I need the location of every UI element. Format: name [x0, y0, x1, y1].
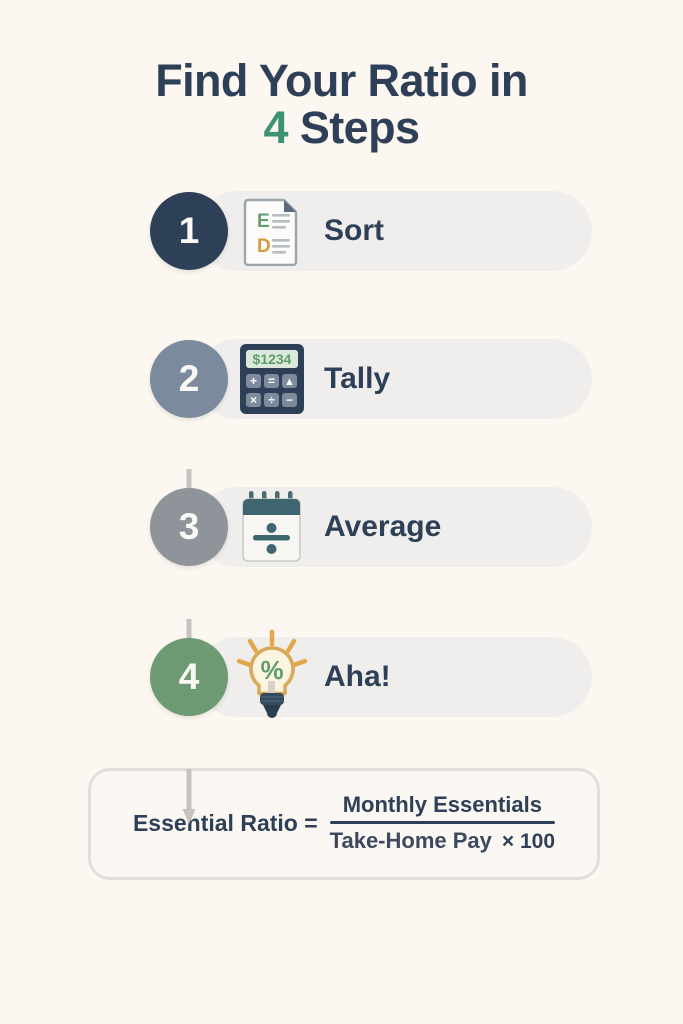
step-number-badge-3: 3 — [150, 488, 228, 566]
step-label-2: Tally — [324, 362, 390, 396]
formula-denominator-row: Take-Home Pay × 100 — [330, 824, 555, 854]
calendar-divide-icon — [234, 485, 310, 569]
formula-numerator: Monthly Essentials — [330, 792, 555, 821]
svg-text:D: D — [257, 236, 271, 257]
svg-text:+: + — [250, 374, 257, 388]
step-number-badge-1: 1 — [150, 192, 228, 270]
step-row-4[interactable]: 4 % Ah — [150, 628, 683, 726]
lightbulb-percent-icon: % — [234, 635, 310, 719]
step-row-3[interactable]: 3 Average — [150, 478, 683, 576]
formula-box: Essential Ratio = Monthly Essentials Tak… — [88, 768, 600, 880]
step-row-1[interactable]: 1 E D Sort — [150, 182, 683, 280]
formula-fraction: Monthly Essentials Take-Home Pay × 100 — [330, 792, 555, 854]
title-line-1: Find Your Ratio in — [0, 58, 683, 105]
arrow-down-icon-3 — [181, 769, 197, 827]
title-step-count: 4 — [264, 102, 288, 153]
calculator-icon: $1234 + = ▲ × ÷ − — [234, 337, 310, 421]
svg-text:÷: ÷ — [268, 393, 275, 407]
formula-denominator: Take-Home Pay — [330, 828, 492, 854]
step-row-2[interactable]: 2 $1234 + = ▲ × ÷ − Tally — [150, 330, 683, 428]
svg-text:▲: ▲ — [284, 376, 295, 388]
document-icon: E D — [234, 189, 310, 273]
title-line-2-rest: Steps — [288, 102, 419, 153]
step-number-badge-2: 2 — [150, 340, 228, 418]
svg-text:E: E — [257, 211, 270, 232]
svg-text:%: % — [260, 655, 283, 685]
step-label-1: Sort — [324, 214, 384, 248]
svg-text:=: = — [268, 374, 275, 388]
formula-left-side: Essential Ratio = — [133, 810, 318, 837]
step-number-badge-4: 4 — [150, 638, 228, 716]
formula-multiplier: × 100 — [502, 830, 555, 854]
step-label-4: Aha! — [324, 660, 391, 694]
step-label-3: Average — [324, 510, 441, 544]
steps-list: 1 E D Sort 2 $1234 — [0, 182, 683, 726]
svg-text:×: × — [250, 393, 257, 407]
page-title: Find Your Ratio in 4 Steps — [0, 0, 683, 152]
svg-text:−: − — [286, 393, 293, 407]
title-line-2: 4 Steps — [0, 105, 683, 152]
svg-text:$1234: $1234 — [253, 351, 292, 367]
